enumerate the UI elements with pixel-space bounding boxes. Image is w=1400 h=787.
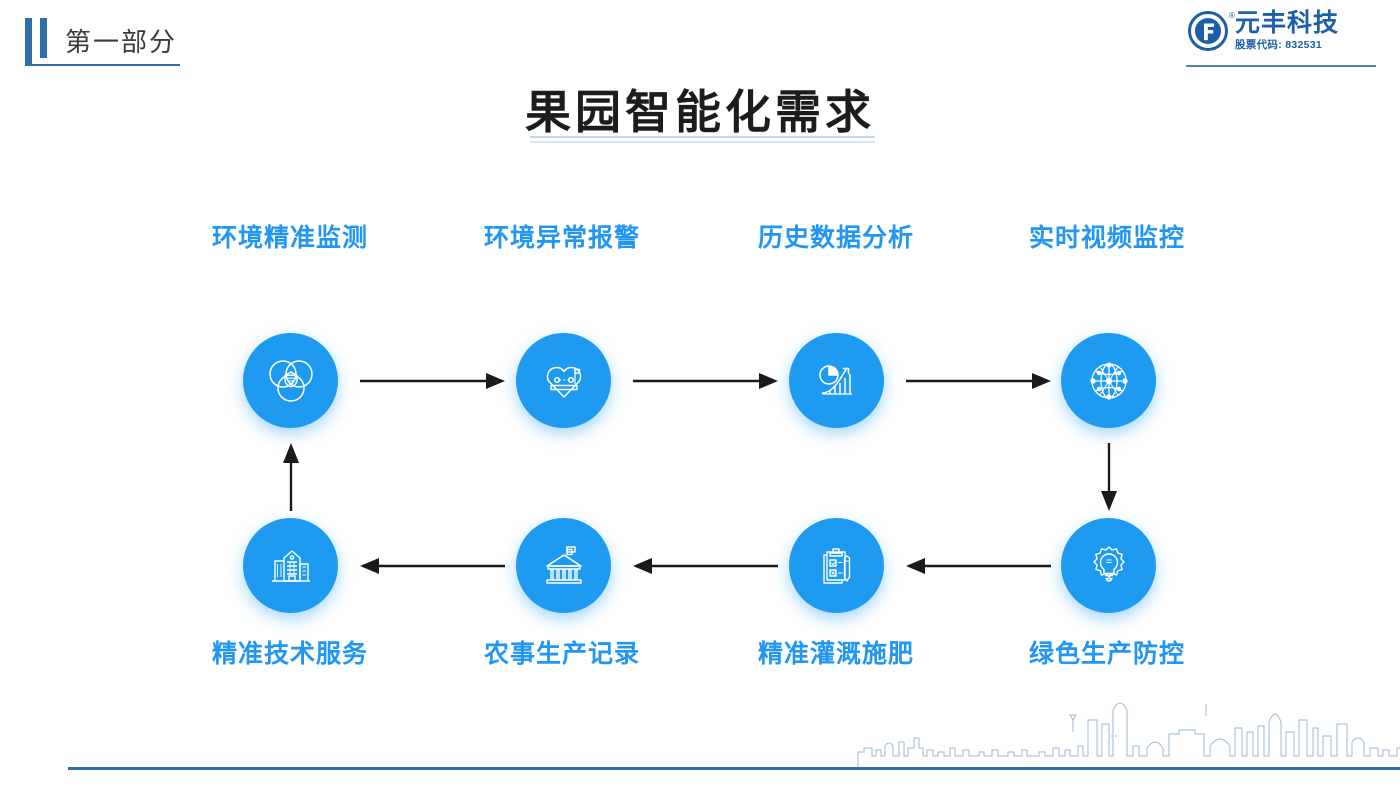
node-history-analysis[interactable] bbox=[789, 333, 884, 428]
node-circle[interactable] bbox=[243, 333, 338, 428]
node-circle[interactable] bbox=[789, 333, 884, 428]
classical-building-icon bbox=[537, 539, 591, 593]
node-circle[interactable] bbox=[789, 518, 884, 613]
node-label-top-2: 环境异常报警 bbox=[432, 218, 692, 254]
node-farm-records[interactable] bbox=[516, 518, 611, 613]
lightbulb-gear-icon bbox=[1082, 539, 1136, 593]
clipboard-checklist-icon bbox=[810, 539, 864, 593]
arrow-right-down bbox=[1098, 443, 1120, 511]
arrow-bottom-4-to-3 bbox=[906, 555, 1051, 577]
city-skyline-decoration bbox=[840, 676, 1400, 772]
node-technical-service[interactable] bbox=[243, 518, 338, 613]
node-label-bottom-4: 绿色生产防控 bbox=[977, 634, 1237, 670]
footer-rule bbox=[68, 767, 1400, 770]
process-diagram: 环境精准监测 环境异常报警 历史数据分析 实时视频监控 精准技术服务 农事生产记… bbox=[0, 0, 1400, 787]
arrow-bottom-2-to-1 bbox=[360, 555, 505, 577]
arrow-top-1-to-2 bbox=[360, 370, 505, 392]
arrow-top-2-to-3 bbox=[633, 370, 778, 392]
node-label-bottom-3: 精准灌溉施肥 bbox=[706, 634, 966, 670]
node-circle[interactable] bbox=[516, 518, 611, 613]
node-circle[interactable] bbox=[243, 518, 338, 613]
node-circle[interactable] bbox=[1061, 518, 1156, 613]
arrow-bottom-3-to-2 bbox=[633, 555, 778, 577]
globe-network-icon bbox=[1082, 354, 1136, 408]
arrow-left-up bbox=[280, 443, 302, 511]
node-label-top-4: 实时视频监控 bbox=[977, 218, 1237, 254]
city-buildings-icon bbox=[264, 539, 318, 593]
node-realtime-video[interactable] bbox=[1061, 333, 1156, 428]
node-label-top-1: 环境精准监测 bbox=[160, 218, 420, 254]
node-label-top-3: 历史数据分析 bbox=[706, 218, 966, 254]
node-irrigation-fertilization[interactable] bbox=[789, 518, 884, 613]
node-anomaly-alarm[interactable] bbox=[516, 333, 611, 428]
node-green-production[interactable] bbox=[1061, 518, 1156, 613]
heart-network-icon bbox=[537, 354, 591, 408]
slide-root: 第一部分 ® 元丰科技 股票代码: 832531 果园智能化需求 bbox=[0, 0, 1400, 787]
node-environment-monitoring[interactable] bbox=[243, 333, 338, 428]
node-circle[interactable] bbox=[516, 333, 611, 428]
arrow-top-3-to-4 bbox=[906, 370, 1051, 392]
venn-circles-icon bbox=[264, 354, 318, 408]
node-circle[interactable] bbox=[1061, 333, 1156, 428]
pie-bar-growth-icon bbox=[810, 354, 864, 408]
node-label-bottom-2: 农事生产记录 bbox=[432, 634, 692, 670]
node-label-bottom-1: 精准技术服务 bbox=[160, 634, 420, 670]
